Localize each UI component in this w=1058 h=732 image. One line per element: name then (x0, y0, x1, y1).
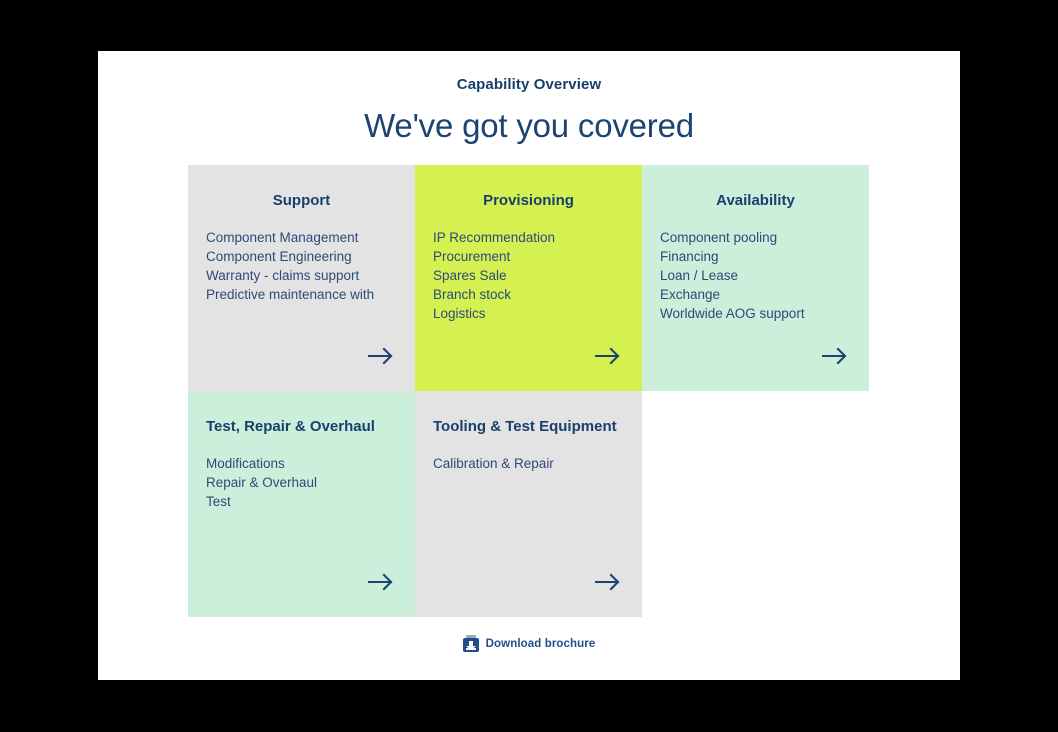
list-item: Warranty - claims support (206, 266, 397, 285)
page-header: Capability Overview We've got you covere… (98, 51, 960, 146)
capability-card-tooling-test-equipment[interactable]: Tooling & Test Equipment Calibration & R… (415, 391, 642, 617)
list-item: Financing (660, 247, 851, 266)
list-item: Loan / Lease (660, 266, 851, 285)
capability-grid-row-2: Test, Repair & Overhaul Modifications Re… (188, 391, 870, 617)
list-item: Component Engineering (206, 247, 397, 266)
capability-card-provisioning[interactable]: Provisioning IP Recommendation Procureme… (415, 165, 642, 391)
card-title: Support (206, 191, 397, 211)
capability-card-availability[interactable]: Availability Component pooling Financing… (642, 165, 869, 391)
list-item: Worldwide AOG support (660, 304, 851, 323)
list-item: Calibration & Repair (433, 454, 624, 473)
card-item-list: Modifications Repair & Overhaul Test (206, 454, 397, 511)
arrow-right-icon[interactable] (368, 572, 394, 592)
capability-card-placeholder (642, 391, 869, 617)
download-brochure-link[interactable]: Download brochure (463, 635, 596, 652)
download-box-icon (463, 635, 479, 652)
arrow-right-icon[interactable] (368, 346, 394, 366)
list-item: Repair & Overhaul (206, 473, 397, 492)
list-item: Spares Sale (433, 266, 624, 285)
page-title: We've got you covered (98, 106, 960, 146)
capability-card-support[interactable]: Support Component Management Component E… (188, 165, 415, 391)
card-item-list: IP Recommendation Procurement Spares Sal… (433, 228, 624, 323)
list-item: IP Recommendation (433, 228, 624, 247)
list-item: Exchange (660, 285, 851, 304)
download-brochure-label: Download brochure (486, 637, 596, 651)
list-item: Test (206, 492, 397, 511)
card-title: Availability (660, 191, 851, 211)
eyebrow-label: Capability Overview (98, 75, 960, 95)
arrow-right-icon[interactable] (822, 346, 848, 366)
list-item: Component Management (206, 228, 397, 247)
card-item-list: Component Management Component Engineeri… (206, 228, 397, 304)
capability-grid-row-1: Support Component Management Component E… (188, 165, 870, 391)
list-item: Logistics (433, 304, 624, 323)
list-item: Branch stock (433, 285, 624, 304)
card-item-list: Calibration & Repair (433, 454, 624, 473)
page-panel: Capability Overview We've got you covere… (98, 51, 960, 680)
list-item: Procurement (433, 247, 624, 266)
capability-card-test-repair-overhaul[interactable]: Test, Repair & Overhaul Modifications Re… (188, 391, 415, 617)
list-item: Component pooling (660, 228, 851, 247)
card-title: Provisioning (433, 191, 624, 211)
card-title: Tooling & Test Equipment (433, 417, 624, 437)
list-item: Modifications (206, 454, 397, 473)
list-item: Predictive maintenance with (206, 285, 397, 304)
card-item-list: Component pooling Financing Loan / Lease… (660, 228, 851, 323)
capability-grid: Support Component Management Component E… (188, 165, 870, 617)
arrow-right-icon[interactable] (595, 572, 621, 592)
card-title: Test, Repair & Overhaul (206, 417, 397, 437)
arrow-right-icon[interactable] (595, 346, 621, 366)
page-footer: Download brochure (98, 635, 960, 657)
